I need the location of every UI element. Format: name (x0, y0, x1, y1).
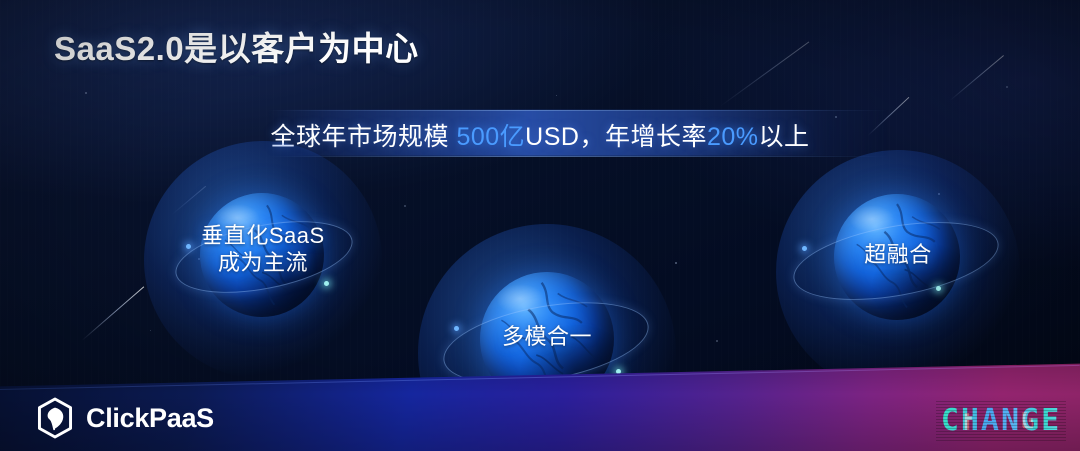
planet-vertical-saas[interactable]: 垂直化SaaS 成为主流 (178, 175, 348, 345)
orbit-node (454, 326, 459, 331)
subtitle-middle: USD，年增长率 (525, 123, 707, 151)
clickpaas-hexagon-icon (36, 397, 74, 439)
star-dot (556, 95, 557, 96)
star-dot (150, 330, 151, 331)
meteor-streak (950, 55, 1004, 101)
orbit-node (802, 246, 807, 251)
meteor-streak (720, 41, 810, 106)
orbit-node (324, 281, 329, 286)
page-title: SaaS2.0是以客户为中心 (54, 22, 419, 70)
slide-canvas: SaaS2.0是以客户为中心 全球年市场规模 500亿USD，年增长率20%以上 (0, 0, 1080, 451)
star-dot (716, 340, 718, 342)
brand-name: ClickPaaS (86, 403, 214, 434)
star-dot (1006, 86, 1008, 88)
star-dot (404, 205, 406, 207)
subtitle-text: 全球年市场规模 500亿USD，年增长率20%以上 (0, 117, 1080, 153)
planet-continents (480, 272, 614, 406)
change-logo-text: CHANGE (936, 401, 1066, 441)
planet-sphere (834, 194, 960, 320)
star-dot (85, 92, 87, 94)
orbit-node (616, 369, 621, 374)
planet-continents (834, 194, 960, 320)
planet-continents (200, 193, 324, 317)
orbit-node (186, 244, 191, 249)
planet-sphere (480, 272, 614, 406)
banner-top-line (268, 110, 888, 111)
subtitle-suffix: 以上 (759, 123, 810, 151)
meteor-streak (82, 286, 145, 341)
planet-hyper-converged[interactable]: 超融合 (808, 182, 988, 357)
star-dot (675, 262, 677, 264)
planet-multi-mode[interactable]: 多模合一 (452, 258, 642, 448)
banner-bottom-line (268, 156, 888, 157)
subtitle-prefix: 全球年市场规模 (270, 123, 456, 151)
subtitle-market-size: 500亿 (456, 123, 525, 151)
brand-logo[interactable]: ClickPaaS (36, 397, 214, 439)
subtitle-growth-rate: 20% (707, 123, 759, 151)
planet-sphere (200, 193, 324, 317)
change-campaign-logo: CHANGE CHANGE CHANGE (936, 401, 1066, 441)
